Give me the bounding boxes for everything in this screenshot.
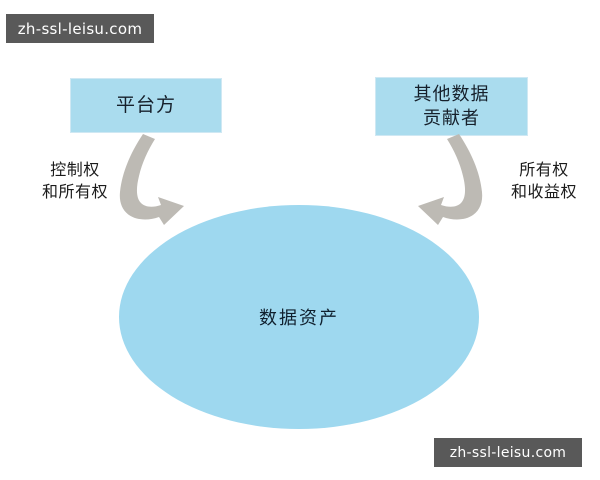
watermark-top: zh-ssl-leisu.com xyxy=(6,14,154,43)
node-contributors-label-line1: 其他数据 xyxy=(414,84,490,105)
node-data-asset-label: 数据资产 xyxy=(259,304,339,330)
edge-label-right-line2: 和收益权 xyxy=(490,181,598,203)
node-platform-party: 平台方 xyxy=(70,78,222,133)
edge-label-left-line1: 控制权 xyxy=(50,160,100,179)
node-platform-party-label: 平台方 xyxy=(116,93,176,118)
edge-label-left-line2: 和所有权 xyxy=(20,181,130,203)
diagram-canvas: zh-ssl-leisu.com 平台方 其他数据 贡献者 控制权 和所有权 所… xyxy=(0,0,600,480)
node-other-data-contributors-label: 其他数据 贡献者 xyxy=(414,83,490,131)
edge-label-right-line1: 所有权 xyxy=(519,160,569,179)
node-data-asset: 数据资产 xyxy=(119,205,479,429)
watermark-bottom: zh-ssl-leisu.com xyxy=(434,438,582,467)
node-other-data-contributors: 其他数据 贡献者 xyxy=(375,77,528,136)
edge-label-left: 控制权 和所有权 xyxy=(20,159,130,203)
node-contributors-label-line2: 贡献者 xyxy=(423,108,480,129)
edge-label-right: 所有权 和收益权 xyxy=(490,159,598,203)
